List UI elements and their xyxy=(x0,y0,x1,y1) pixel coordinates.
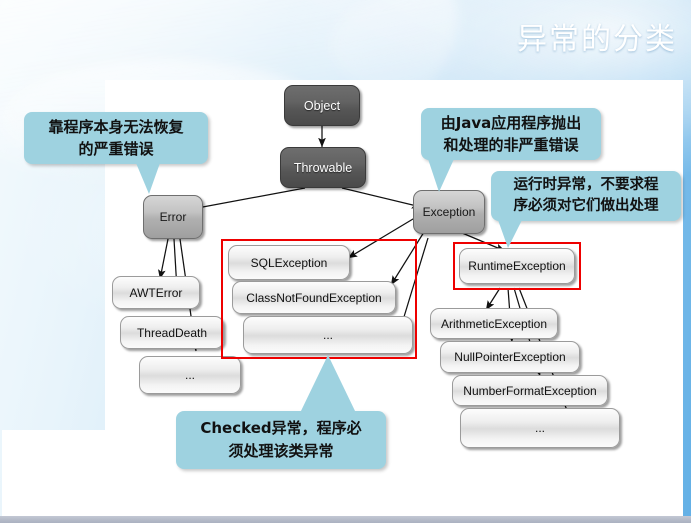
node-numberformatexception[interactable]: NumberFormatException xyxy=(452,375,608,406)
footer-bar xyxy=(0,516,691,523)
node-object[interactable]: Object xyxy=(284,85,360,126)
callout-checked-tail xyxy=(300,355,356,413)
node-label: ... xyxy=(185,368,195,382)
callout-exception: 由Java应用程序抛出 和处理的非严重错误 xyxy=(421,108,601,160)
node-label: AWTError xyxy=(130,286,183,300)
node-label: ... xyxy=(535,421,545,435)
node-error[interactable]: Error xyxy=(143,195,203,239)
node-label: Object xyxy=(304,99,340,113)
node-runtime-more[interactable]: ... xyxy=(460,408,620,448)
node-arithmeticexception[interactable]: ArithmeticException xyxy=(430,308,558,339)
callout-error: 靠程序本身无法恢复 的严重错误 xyxy=(24,112,208,164)
callout-error-tail xyxy=(136,163,160,194)
checked-exception-highlight xyxy=(221,239,417,359)
callout-runtime: 运行时异常，不要求程 序必须对它们做出处理 xyxy=(491,171,681,221)
node-error-more[interactable]: ... xyxy=(139,356,241,394)
node-throwable[interactable]: Throwable xyxy=(280,147,366,188)
node-label: ThreadDeath xyxy=(137,326,207,340)
node-threaddeath[interactable]: ThreadDeath xyxy=(120,316,224,349)
node-nullpointerexception[interactable]: NullPointerException xyxy=(440,341,580,373)
node-exception[interactable]: Exception xyxy=(413,190,485,234)
node-awterror[interactable]: AWTError xyxy=(112,276,200,309)
callout-checked-text: Checked异常，程序必 须处理该类异常 xyxy=(192,417,369,463)
slide: 异常的分类 xyxy=(0,0,691,523)
node-label: NumberFormatException xyxy=(463,384,596,398)
callout-runtime-text: 运行时异常，不要求程 序必须对它们做出处理 xyxy=(506,175,667,217)
callout-checked: Checked异常，程序必 须处理该类异常 xyxy=(176,411,386,469)
node-label: Throwable xyxy=(294,161,352,175)
node-label: Error xyxy=(160,210,187,224)
callout-exception-tail xyxy=(428,159,454,192)
runtime-exception-highlight xyxy=(453,242,581,290)
node-label: Exception xyxy=(423,205,476,219)
node-label: NullPointerException xyxy=(454,350,565,364)
callout-error-text: 靠程序本身无法恢复 的严重错误 xyxy=(40,116,191,160)
callout-runtime-tail xyxy=(498,220,522,248)
node-label: ArithmeticException xyxy=(441,317,547,331)
callout-exception-text: 由Java应用程序抛出 和处理的非严重错误 xyxy=(433,112,590,156)
slide-title: 异常的分类 xyxy=(517,23,677,57)
